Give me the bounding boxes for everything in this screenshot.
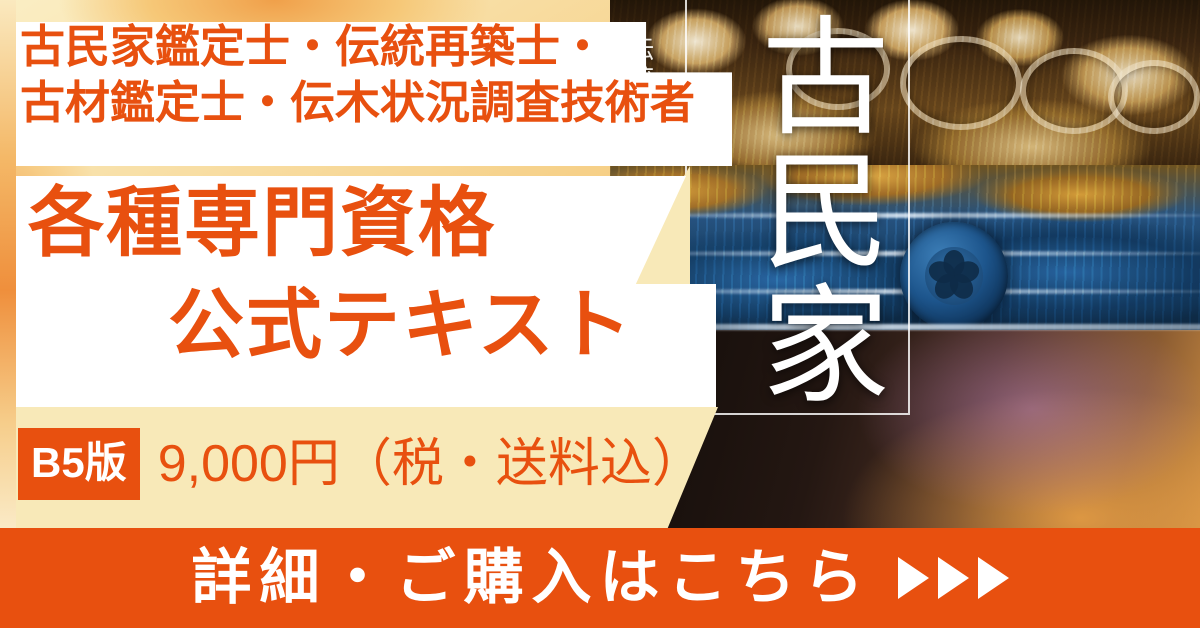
- triangle-right-icon: [938, 557, 969, 599]
- wood-swirl-icon: [1108, 60, 1200, 134]
- cta-arrows: [898, 557, 1009, 599]
- promotional-banner: 古民家 伝統構法、古民家活用のための調査と再生の 古民家鑑定士・伝統再築士・ 古…: [0, 0, 1200, 628]
- price-row: B5版 9,000円（税・送料込）: [18, 428, 704, 500]
- triangle-right-icon: [898, 557, 929, 599]
- cta-bar[interactable]: 詳細・ご購入はこちら: [0, 528, 1200, 628]
- headline-line-2: 公式テキスト: [168, 288, 634, 364]
- format-badge: B5版: [18, 428, 140, 500]
- wood-swirl-icon: [900, 36, 1022, 130]
- left-edge-strip: [0, 0, 16, 528]
- qualifications-line-1: 古民家鑑定士・伝統再築士・: [20, 19, 720, 75]
- wood-swirl-icon: [1020, 48, 1128, 134]
- book-cover-title: 古民家: [710, 10, 885, 412]
- cta-label: 詳細・ご購入はこちら: [192, 548, 872, 608]
- family-crest-medallion: [900, 222, 1008, 330]
- headline-line-1: 各種専門資格: [28, 186, 496, 262]
- qualifications-line-2: 古材鑑定士・伝木状況調査技術者: [20, 75, 720, 131]
- triangle-right-icon: [978, 557, 1009, 599]
- qualifications-text: 古民家鑑定士・伝統再築士・ 古材鑑定士・伝木状況調査技術者: [20, 19, 720, 132]
- price-amount: 9,000円（税・送料込）: [158, 438, 704, 490]
- crest-inner: [925, 247, 983, 305]
